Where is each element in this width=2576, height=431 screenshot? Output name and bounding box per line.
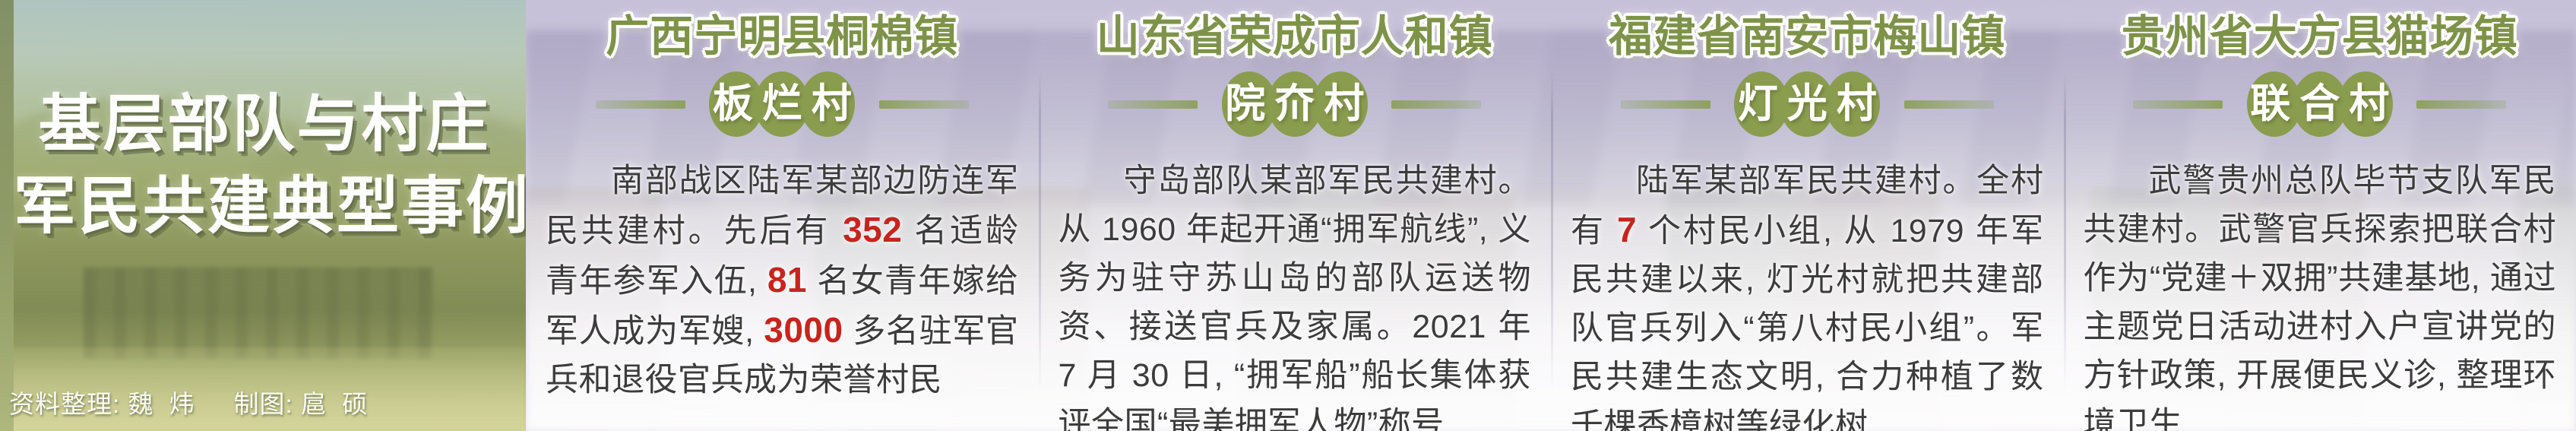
village-badge-row: 院夼村 [1059,71,1532,137]
village-badge-row: 灯光村 [1571,71,2044,137]
body-text-run: 武警贵州总队毕节支队军民共建村。武警官兵探索把联合村作为“党建＋双拥”共建基地,… [2084,163,2557,431]
column-divider [1551,73,1553,392]
town-name: 福建省南安市梅山镇 [1571,9,2044,64]
case-body-text: 南部战区陆军某部边防连军民共建村。先后有 352 名适龄青年参军入伍, 81 名… [546,157,1019,404]
case-column-2: 山东省荣成市人和镇 院夼村 守岛部队某部军民共建村。从 1960 年起开通“拥军… [1039,0,1552,431]
case-column-4: 贵州省大方县猫场镇 联合村 武警贵州总队毕节支队军民共建村。武警官兵探索把联合村… [2064,0,2576,431]
highlight-number: 81 [767,260,807,299]
village-name: 板烂村 [704,71,861,137]
case-body-text: 武警贵州总队毕节支队军民共建村。武警官兵探索把联合村作为“党建＋双拥”共建基地,… [2084,157,2557,431]
village-rooftops-shape [84,268,433,359]
badge-rule-left [1621,100,1710,109]
title-panel: 基层部队与村庄 军民共建典型事例 资料整理: 魏 炜 制图: 扈 硕 [0,0,526,431]
village-badge-row: 联合村 [2084,71,2557,137]
case-column-3: 福建省南安市梅山镇 灯光村 陆军某部军民共建村。全村有 7 个村民小组, 从 1… [1551,0,2064,431]
case-body-text: 守岛部队某部军民共建村。从 1960 年起开通“拥军航线”, 义务为驻守苏山岛的… [1059,157,1532,431]
badge-rule-right [2416,100,2506,109]
panel-edge-strip [0,0,14,431]
page-title-line-2: 军民共建典型事例 [14,166,515,248]
village-name: 联合村 [2241,71,2398,137]
village-badge: 联合村 [2233,71,2406,137]
badge-rule-left [1108,100,1198,109]
badge-rule-left [596,100,685,109]
credit-line: 资料整理: 魏 炜 制图: 扈 硕 [9,388,503,420]
village-name: 院夼村 [1216,71,1373,137]
page-title: 基层部队与村庄 军民共建典型事例 [14,84,515,248]
town-name: 山东省荣成市人和镇 [1059,9,1532,64]
badge-rule-right [879,100,969,109]
case-column-1: 广西宁明县桐棉镇 板烂村 南部战区陆军某部边防连军民共建村。先后有 352 名适… [526,0,1039,431]
cases-container: 广西宁明县桐棉镇 板烂村 南部战区陆军某部边防连军民共建村。先后有 352 名适… [526,0,2576,431]
body-text-run: 个村民小组, 从 1979 年军民共建以来, 灯光村就把共建部队官兵列入“第八村… [1571,213,2044,431]
page-title-line-1: 基层部队与村庄 [14,84,515,166]
badge-rule-right [1391,100,1481,109]
case-body-text: 陆军某部军民共建村。全村有 7 个村民小组, 从 1979 年军民共建以来, 灯… [1571,157,2044,431]
town-name: 广西宁明县桐棉镇 [546,9,1019,64]
column-divider [1039,73,1041,392]
highlight-number: 3000 [764,310,843,350]
badge-rule-right [1904,100,1994,109]
column-divider [2064,73,2066,392]
badge-rule-left [2133,100,2223,109]
village-name: 灯光村 [1729,71,1886,137]
body-text-run: 守岛部队某部军民共建村。从 1960 年起开通“拥军航线”, 义务为驻守苏山岛的… [1059,163,1532,431]
village-badge: 院夼村 [1208,71,1381,137]
village-badge: 灯光村 [1721,71,1894,137]
town-name: 贵州省大方县猫场镇 [2084,9,2557,64]
highlight-number: 352 [843,210,902,249]
highlight-number: 7 [1617,210,1637,249]
village-badge-row: 板烂村 [546,71,1019,137]
village-badge: 板烂村 [696,71,869,137]
infographic-poster: 基层部队与村庄 军民共建典型事例 资料整理: 魏 炜 制图: 扈 硕 广西宁明县… [0,0,2576,431]
